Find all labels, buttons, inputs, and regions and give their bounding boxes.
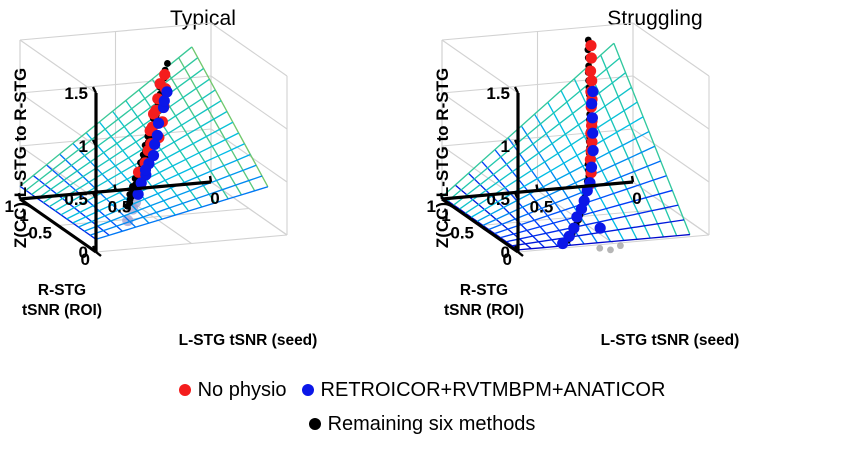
scatter-point-blue (586, 98, 597, 109)
y-tick-0.5: 0.5 (450, 224, 474, 243)
z-tick-1: 1 (79, 137, 88, 156)
y-tick-0: 0 (503, 250, 512, 269)
z-tick-0.5: 0.5 (486, 190, 510, 209)
scatter-point-blue (587, 112, 598, 123)
panel-struggling: Struggling 00.511.500.5110.50Z(CC) L-STG… (422, 0, 844, 365)
scatter-point-red (585, 40, 596, 51)
scatter-point-blue (595, 223, 606, 234)
y-axis-label-line1: R-STG (38, 282, 86, 299)
scatter-point-red (159, 69, 170, 80)
scatter-point-red (586, 75, 597, 86)
scatter-point-blue (140, 164, 151, 175)
legend-entry-remaining-six: Remaining six methods (309, 412, 536, 436)
x-tick-0: 0 (632, 189, 641, 208)
y-tick-0: 0 (81, 250, 90, 269)
x-axis-label: L-STG tSNR (seed) (179, 332, 318, 349)
mesh-line (26, 58, 198, 191)
scatter-point-black (607, 246, 614, 253)
x-axis-label: L-STG tSNR (seed) (601, 332, 740, 349)
y-axis-label-line2: tSNR (ROI) (22, 302, 102, 319)
panel-typical: Typical 00.511.500.5110.50Z(CC) L-STG to… (0, 0, 422, 365)
scatter-point-black (596, 245, 603, 252)
scatter-point-blue (568, 223, 579, 234)
scatter-point-blue (576, 203, 587, 214)
mesh-line (601, 55, 677, 236)
y-tick-0.5: 0.5 (28, 224, 52, 243)
figure-root: Typical 00.511.500.5110.50Z(CC) L-STG to… (0, 0, 844, 453)
legend-entry-no-physio: No physio (179, 378, 287, 402)
scatter-point-red (585, 65, 596, 76)
legend-entry-retroicor: RETROICOR+RVTMBPM+ANATICOR (302, 378, 666, 402)
scatter-point-black (617, 242, 624, 249)
scatter-point-blue (159, 95, 170, 106)
mesh-line (614, 43, 690, 234)
scatter-point-black (164, 60, 171, 67)
legend-marker-remaining-six (309, 418, 321, 430)
legend-label-remaining-six: Remaining six methods (328, 412, 536, 436)
legend-row-secondary: Remaining six methods (0, 407, 844, 441)
y-axis-label-line1: R-STG (460, 282, 508, 299)
scatter-point-blue (153, 118, 164, 129)
legend-marker-no-physio (179, 384, 191, 396)
scatter-point-blue (587, 145, 598, 156)
scatter-point-red (586, 52, 597, 63)
z-axis-label: Z(CC) L-STG to R-STG (433, 68, 452, 248)
scatter-point-blue (587, 86, 598, 97)
x-tick-0.5: 0.5 (108, 198, 132, 217)
legend-marker-retroicor (302, 384, 314, 396)
z-tick-0.5: 0.5 (64, 190, 88, 209)
z-tick-1.5: 1.5 (486, 84, 510, 103)
plot-3d-typical: 00.511.500.5110.50Z(CC) L-STG to R-STGR-… (0, 0, 422, 365)
mesh-line (192, 47, 268, 187)
scatter-point-blue (586, 162, 597, 173)
scatter-point-blue (149, 139, 160, 150)
x-tick-0: 0 (210, 189, 219, 208)
legend: No physioRETROICOR+RVTMBPM+ANATICOR Rema… (0, 365, 844, 453)
legend-row-primary: No physioRETROICOR+RVTMBPM+ANATICOR (0, 365, 844, 407)
z-tick-1: 1 (501, 137, 510, 156)
z-tick-1.5: 1.5 (64, 84, 88, 103)
scatter-point-blue (587, 128, 598, 139)
y-axis-label-line2: tSNR (ROI) (444, 302, 524, 319)
x-tick-0.5: 0.5 (530, 198, 554, 217)
plot-3d-struggling: 00.511.500.5110.50Z(CC) L-STG to R-STGR-… (422, 0, 844, 365)
scatter-point-blue (557, 238, 568, 249)
legend-label-retroicor: RETROICOR+RVTMBPM+ANATICOR (321, 378, 666, 402)
surface-mesh (442, 43, 690, 250)
legend-label-no-physio: No physio (198, 378, 287, 402)
z-axis-label: Z(CC) L-STG to R-STG (11, 68, 30, 248)
